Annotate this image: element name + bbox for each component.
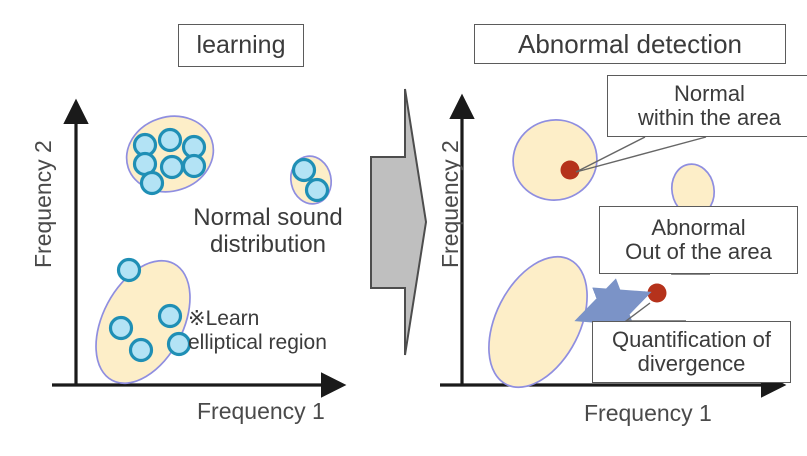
callout-abnormal-line1: Abnormal [651,216,745,240]
left-y-axis-label: Frequency 2 [30,140,57,268]
callout-normal-line2: within the area [638,106,781,130]
right-region-upper [505,111,606,209]
panel-title-abnormal-detection: Abnormal detection [474,24,786,64]
abnormal-point-marker [648,284,667,303]
right-x-axis-label: Frequency 1 [584,400,712,427]
normal-point-marker [561,161,580,180]
divergence-arrow [580,294,646,319]
panel-title-learning: learning [178,24,304,67]
region-ellipse [469,241,607,404]
callout-quant-line1: Quantification of [612,328,771,352]
region-ellipse [117,105,224,203]
right-region-lower [469,241,607,404]
leader-quant [626,303,686,321]
diagram-canvas: learning Abnormal detection Normal withi… [0,0,807,456]
callout-normal-within-area: Normal within the area [607,75,807,137]
left-cluster-upper [117,105,224,203]
callout-quantification-of-divergence: Quantification of divergence [592,321,791,383]
callout-quant-line2: divergence [638,352,746,376]
region-ellipse [505,111,606,209]
panel-title-abnormal-detection-text: Abnormal detection [518,30,742,58]
annotation-learn-elliptical-region: ※Learn elliptical region [188,307,338,354]
left-x-axis-label: Frequency 1 [197,398,325,425]
panel-title-learning-text: learning [197,32,286,59]
flow-arrow-icon [371,89,426,355]
left-cluster-small [286,152,335,207]
callout-abnormal-line2: Out of the area [625,240,772,264]
callout-normal-line1: Normal [674,82,745,106]
annotation-normal-sound-distribution: Normal sound distribution [188,205,348,259]
callout-abnormal-out-of-area: Abnormal Out of the area [599,206,798,274]
right-y-axis-label: Frequency 2 [437,140,464,268]
